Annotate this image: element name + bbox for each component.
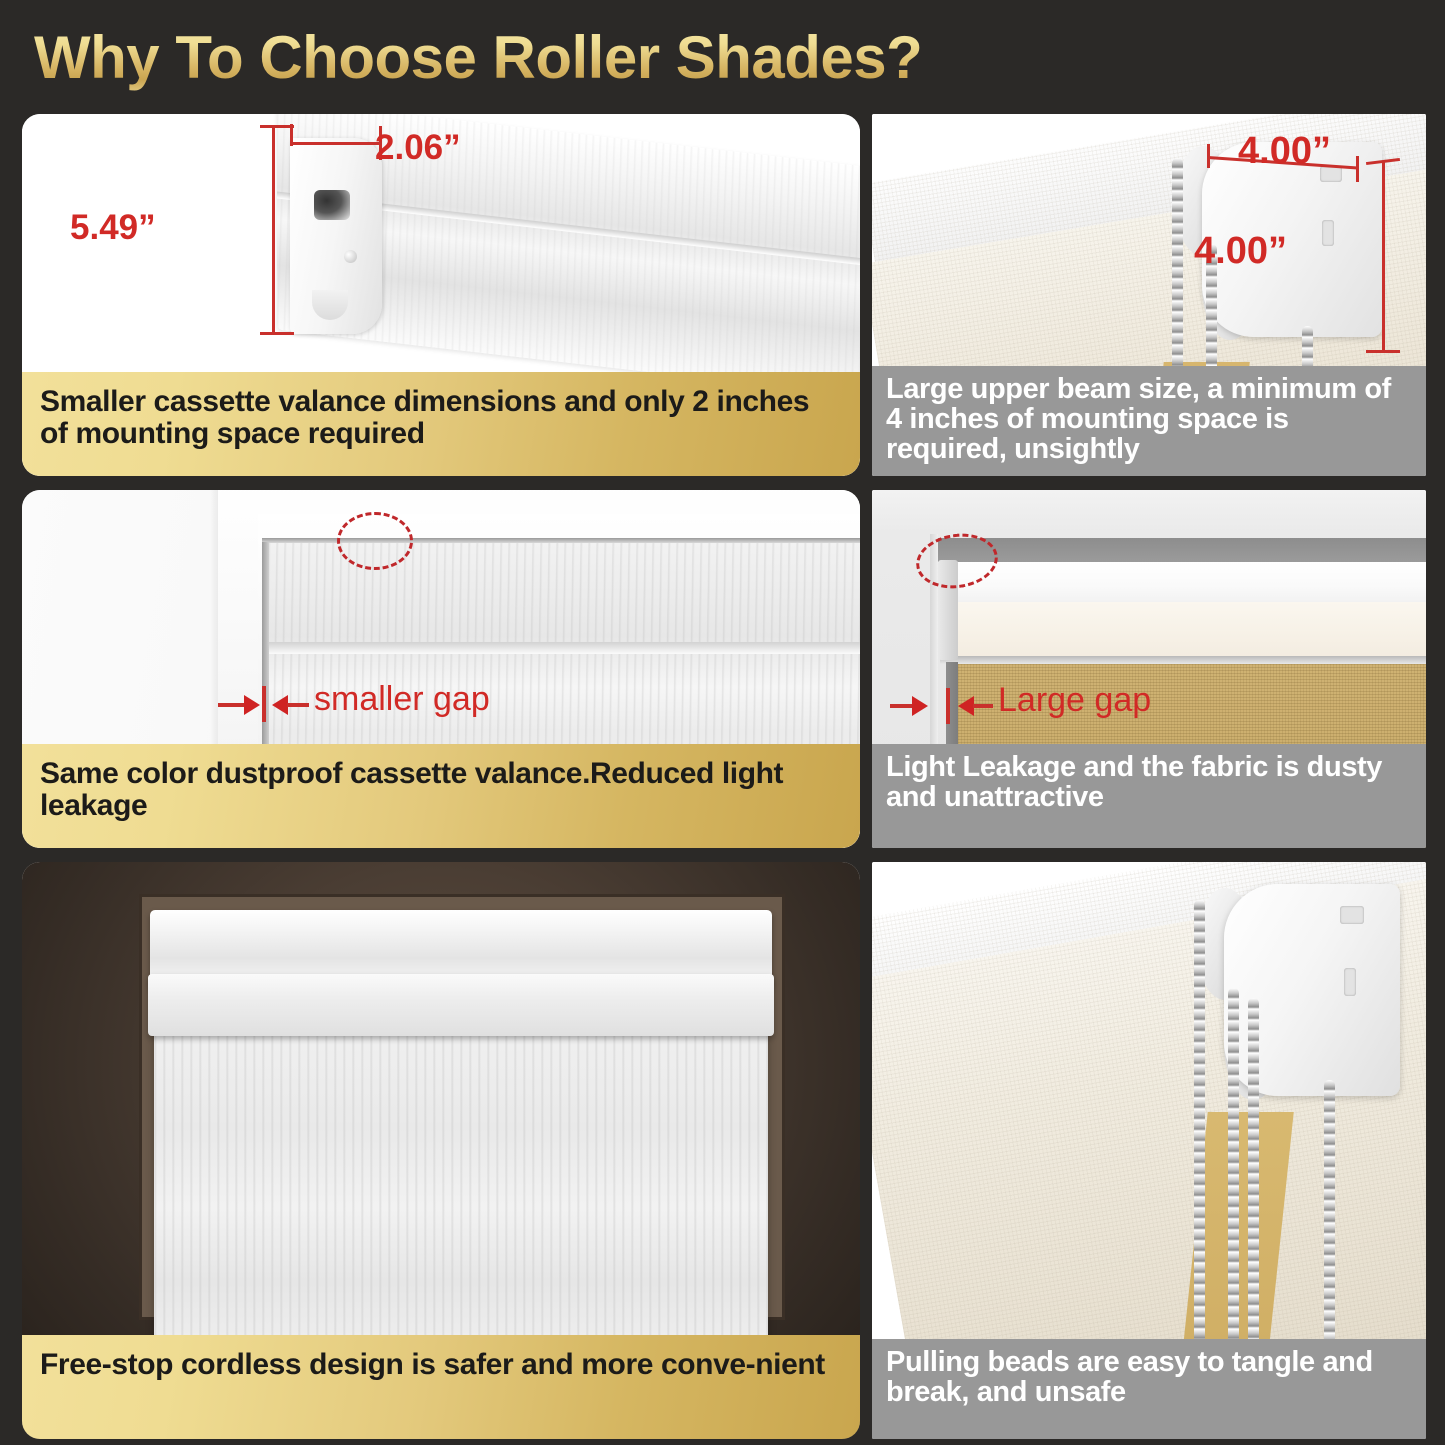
gap-arrow-left-shaft <box>890 704 914 708</box>
width-dimension-label: 2.06” <box>375 128 461 168</box>
bead-chain-1 <box>1172 158 1183 378</box>
height-dim-tick-bottom <box>260 332 294 335</box>
width-dim-line <box>291 142 381 145</box>
large-gap-label: Large gap <box>998 681 1151 720</box>
caption-light-leakage: Light Leakage and the fabric is dusty an… <box>872 744 1426 848</box>
fabric-texture <box>154 1032 768 1352</box>
gap-arrow-left-head <box>244 695 260 715</box>
end-cap-knob <box>312 290 348 320</box>
panel-large-upper-beam: 4.00” 4.00” Large upper beam size, a min… <box>872 114 1426 476</box>
panel-cassette-dimensions: 2.06” 5.49” Smaller cassette valance dim… <box>22 114 860 476</box>
end-cap-slot <box>314 190 350 220</box>
height-dim-line <box>272 125 275 335</box>
bracket-slot-1 <box>1340 906 1364 924</box>
bead-chain-4 <box>1324 1080 1335 1352</box>
beam-width-tick-right <box>1356 156 1359 182</box>
gap-arrow-left-shaft <box>218 703 246 707</box>
gap-highlight-circle <box>337 512 413 570</box>
gap-arrow-right-shaft <box>287 703 309 707</box>
comparison-grid: 2.06” 5.49” Smaller cassette valance dim… <box>0 110 1445 1445</box>
smaller-gap-label: smaller gap <box>314 680 490 719</box>
gap-arrow-right-head <box>272 695 288 715</box>
bead-chain-1 <box>1194 900 1205 1352</box>
gap-arrow-right-shaft <box>973 704 993 708</box>
beam-width-tick-left <box>1207 144 1210 168</box>
gap-arrow-right-head <box>958 696 974 716</box>
panel-dustproof-valance: smaller gap Same color dustproof cassett… <box>22 490 860 848</box>
infographic-page: Why To Choose Roller Shades? 2.06” <box>0 0 1445 1445</box>
panel-cordless-design: Free-stop cordless design is safer and m… <box>22 862 860 1439</box>
height-dimension-label: 5.49” <box>70 208 156 248</box>
panel-light-leakage: Large gap Light Leakage and the fabric i… <box>872 490 1426 848</box>
gap-arrow-left-head <box>912 696 928 716</box>
bracket-slot-2 <box>1322 220 1334 246</box>
beam-height-dimension-label: 4.00” <box>1194 230 1287 273</box>
page-title-wrapper: Why To Choose Roller Shades? <box>34 22 1234 94</box>
beam-rail-line <box>940 656 1426 664</box>
caption-cordless-design: Free-stop cordless design is safer and m… <box>22 1335 860 1439</box>
beam-width-dimension-label: 4.00” <box>1238 130 1331 173</box>
beam-lower-face <box>940 602 1426 660</box>
caption-cassette-dimensions: Smaller cassette valance dimensions and … <box>22 372 860 476</box>
beam-height-dim-line <box>1382 162 1385 352</box>
panel-pulling-beads: Pulling beads are easy to tangle and bre… <box>872 862 1426 1439</box>
valance-rail <box>268 642 860 654</box>
height-dim-tick-top <box>260 125 294 128</box>
cassette-valance-lower <box>148 974 774 1036</box>
caption-large-upper-beam: Large upper beam size, a minimum of 4 in… <box>872 366 1426 476</box>
bead-chain-3 <box>1248 998 1259 1352</box>
gap-marker-bar <box>946 688 950 724</box>
valance-end-cap <box>290 138 382 334</box>
caption-dustproof-valance: Same color dustproof cassette valance.Re… <box>22 744 860 848</box>
beam-height-tick-bottom <box>1366 350 1400 353</box>
page-title: Why To Choose Roller Shades? <box>34 22 1234 94</box>
shade-fabric <box>154 1032 768 1352</box>
gap-marker-bar <box>262 686 266 722</box>
bracket-slot-2 <box>1344 968 1356 996</box>
caption-pulling-beads: Pulling beads are easy to tangle and bre… <box>872 1339 1426 1439</box>
bead-chain-2 <box>1228 988 1239 1352</box>
end-cap-screw <box>344 250 357 263</box>
